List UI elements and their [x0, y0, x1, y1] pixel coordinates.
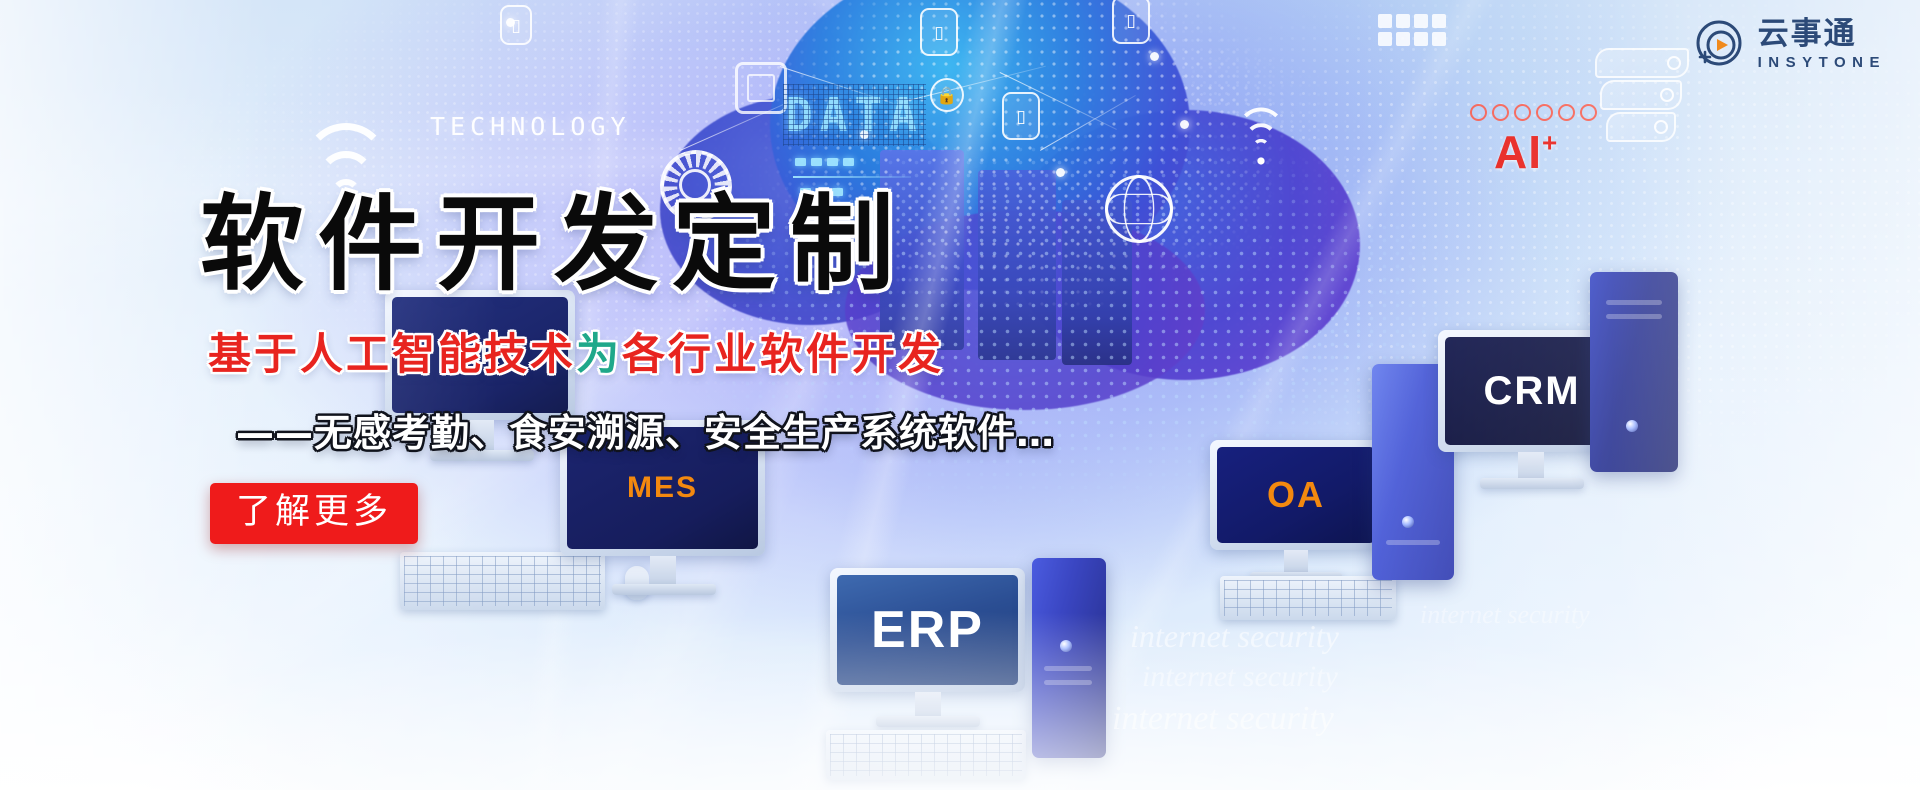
tower-power-light [1060, 640, 1072, 652]
tagline: ——无感考勤、食安溯源、安全生产系统软件… [236, 402, 1200, 457]
mobile-device-node-icon: ▯ [1002, 92, 1040, 140]
monitor-stand [650, 556, 676, 586]
ai-plus-label: AI+ [1494, 125, 1558, 179]
subheadline: 基于人工智能技术为各行业软件开发 [208, 320, 1200, 382]
data-rule-line [793, 176, 911, 178]
tower-slot [1044, 680, 1092, 685]
security-watermark: internet security [1112, 700, 1334, 738]
tower-slot [1606, 300, 1662, 305]
play-circle-icon [1694, 18, 1746, 70]
hud-shape-icon [1595, 48, 1689, 78]
tower-slot [1386, 540, 1440, 545]
brand-logo[interactable]: 云事通 INSYTONE [1694, 18, 1886, 70]
status-dots-icon [1470, 104, 1597, 121]
security-watermark: internet security [1142, 660, 1338, 694]
keyboard [826, 730, 1026, 780]
tower-power-light [1626, 420, 1638, 432]
monitor-stand [1518, 452, 1544, 480]
ai-text: AI [1494, 126, 1542, 178]
ai-superscript: + [1542, 128, 1558, 158]
page-title: 软件开发定制 [200, 190, 1200, 298]
promotional-banner: ▯ ▯ ▯ 🔒 ▯ DATA TECHNOLOGY AI+ [0, 0, 1920, 790]
subheadline-part-1: 基于人工智能技术 [208, 330, 576, 380]
monitor-stand [1284, 550, 1308, 574]
logo-name-en: INSYTONE [1758, 55, 1886, 70]
learn-more-button[interactable]: 了解更多 [210, 483, 418, 544]
tower-slot [1044, 666, 1092, 671]
wifi-icon [1235, 125, 1287, 164]
tower-slot [1606, 314, 1662, 319]
headline-copy-block: 软件开发定制 基于人工智能技术为各行业软件开发 ——无感考勤、食安溯源、安全生产… [200, 190, 1200, 544]
keyboard [1220, 576, 1396, 620]
hud-shape-icon [1606, 112, 1676, 142]
logo-text: 云事通 INSYTONE [1758, 19, 1886, 70]
security-watermark: internet security [1420, 600, 1590, 630]
monitor-base [612, 584, 716, 595]
keyboard [400, 552, 605, 610]
mobile-device-node-icon: ▯ [1112, 0, 1150, 44]
monitor-base [876, 716, 980, 727]
oa-screen-label: OA [1217, 447, 1375, 543]
data-block-icon [1378, 14, 1446, 46]
network-node-dot [1056, 168, 1065, 177]
data-label: DATA [785, 88, 924, 142]
logo-name-cn: 云事通 [1758, 19, 1886, 50]
computer-tower [1032, 558, 1106, 758]
technology-label: TECHNOLOGY [430, 112, 631, 141]
hud-shape-icon [1600, 80, 1682, 110]
erp-screen-label: ERP [837, 575, 1018, 685]
monitor-stand [915, 692, 941, 718]
chip-icon [735, 62, 787, 114]
security-watermark: internet security [1130, 618, 1339, 655]
network-node-dot [1180, 120, 1189, 129]
data-bar-indicator [795, 158, 854, 166]
network-node-dot [1150, 52, 1159, 61]
monitor-base [1480, 478, 1584, 489]
mobile-device-node-icon: ▯ [920, 8, 958, 56]
subheadline-highlight: 为 [576, 330, 622, 380]
subheadline-part-2: 各行业软件开发 [622, 330, 944, 380]
lock-node-icon: 🔒 [930, 78, 964, 112]
tower-power-light [1402, 516, 1414, 528]
mobile-device-node-icon: ▯ [500, 5, 532, 45]
